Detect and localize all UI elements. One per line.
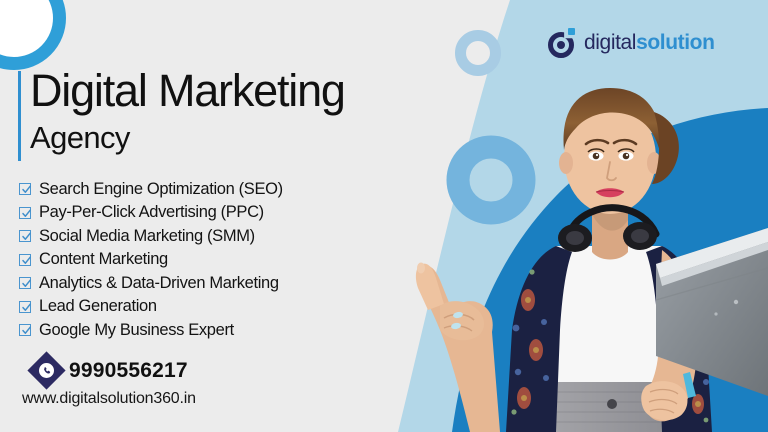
checked-checkbox-icon xyxy=(19,207,31,219)
circle-dot-logo-icon xyxy=(548,28,578,58)
list-item: Search Engine Optimization (SEO) xyxy=(19,178,283,200)
list-item: Social Media Marketing (SMM) xyxy=(19,225,283,247)
phone-number: 9990556217 xyxy=(69,359,188,383)
list-item: Pay-Per-Click Advertising (PPC) xyxy=(19,202,283,224)
brand-name-part1: digital xyxy=(584,31,636,54)
list-item-label: Pay-Per-Click Advertising (PPC) xyxy=(39,203,264,222)
list-item-label: Lead Generation xyxy=(39,297,157,316)
checked-checkbox-icon xyxy=(19,183,31,195)
list-item: Google My Business Expert xyxy=(19,319,283,341)
checked-checkbox-icon xyxy=(19,277,31,289)
list-item-label: Google My Business Expert xyxy=(39,321,234,340)
headline-accent-bar xyxy=(18,71,21,161)
phone-contact[interactable]: 9990556217 xyxy=(33,357,188,384)
brand-name-part2: solution xyxy=(636,31,714,54)
list-item-label: Analytics & Data-Driven Marketing xyxy=(39,274,279,293)
headline-block: Digital Marketing Agency xyxy=(30,68,345,154)
phone-handset-icon xyxy=(27,351,65,389)
list-item: Analytics & Data-Driven Marketing xyxy=(19,272,283,294)
gripping-hand xyxy=(641,381,687,420)
list-item: Content Marketing xyxy=(19,249,283,271)
page-title: Digital Marketing xyxy=(30,68,345,114)
list-item-label: Social Media Marketing (SMM) xyxy=(39,227,255,246)
list-item-label: Search Engine Optimization (SEO) xyxy=(39,180,283,199)
checked-checkbox-icon xyxy=(19,230,31,242)
brand-logo[interactable]: digitalsolution xyxy=(548,28,715,58)
checked-checkbox-icon xyxy=(19,254,31,266)
services-checklist: Search Engine Optimization (SEO) Pay-Per… xyxy=(19,178,283,343)
checked-checkbox-icon xyxy=(19,301,31,313)
page-subtitle: Agency xyxy=(30,122,345,155)
brand-name: digitalsolution xyxy=(584,31,715,55)
checked-checkbox-icon xyxy=(19,324,31,336)
marketing-banner: digitalsolution Digital Marketing Agency… xyxy=(0,0,768,432)
website-url[interactable]: www.digitalsolution360.in xyxy=(22,390,196,408)
list-item: Lead Generation xyxy=(19,296,283,318)
list-item-label: Content Marketing xyxy=(39,250,168,269)
